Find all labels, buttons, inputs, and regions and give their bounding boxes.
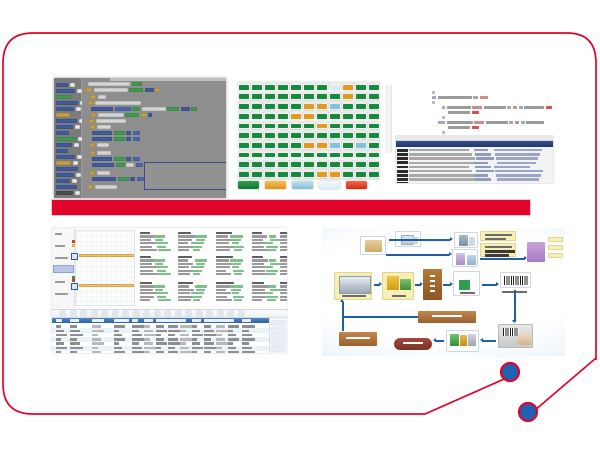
program-block[interactable] (97, 125, 111, 129)
palette-block[interactable] (56, 101, 78, 105)
palette-block-socket[interactable] (74, 143, 79, 147)
status-cell[interactable] (368, 179, 380, 180)
status-cell[interactable] (277, 111, 289, 119)
status-cell[interactable] (277, 121, 289, 129)
program-block[interactable] (90, 143, 95, 147)
status-cell[interactable] (316, 121, 328, 129)
status-cell[interactable] (329, 101, 341, 109)
status-cell[interactable] (251, 121, 263, 129)
status-cell[interactable] (355, 92, 367, 100)
grid-toolbar-button[interactable] (60, 311, 65, 316)
status-cell[interactable] (238, 160, 250, 168)
gantt-bar[interactable] (79, 254, 134, 257)
flow-node-report-a[interactable] (548, 237, 563, 242)
palette-block-socket[interactable] (73, 161, 78, 165)
grid-toolbar-button[interactable] (102, 311, 107, 316)
status-cell[interactable] (316, 130, 328, 138)
program-block[interactable] (114, 131, 125, 135)
status-cell[interactable] (290, 101, 302, 109)
program-block[interactable] (97, 171, 110, 175)
status-cell[interactable] (264, 111, 276, 119)
grid-column-header[interactable] (204, 319, 216, 321)
status-cell[interactable] (277, 160, 289, 168)
program-block[interactable] (132, 107, 140, 111)
status-cell[interactable] (238, 101, 250, 109)
program-block[interactable] (114, 157, 125, 161)
grid-column-header[interactable] (228, 319, 234, 321)
status-cell[interactable] (316, 101, 328, 109)
grid-column-header[interactable] (114, 319, 129, 321)
gantt-detail-label (178, 259, 188, 261)
program-block[interactable] (92, 137, 112, 141)
flow-node-wms-client[interactable] (452, 249, 478, 267)
grid-toolbar-button[interactable] (207, 311, 212, 316)
program-block[interactable] (92, 131, 112, 135)
palette-block[interactable] (56, 149, 68, 153)
status-cell[interactable] (368, 92, 380, 100)
program-block[interactable] (97, 151, 111, 155)
status-cell[interactable] (264, 121, 276, 129)
status-cell[interactable] (342, 130, 354, 138)
status-cell[interactable] (303, 150, 315, 158)
palette-block[interactable] (56, 89, 75, 93)
status-cell[interactable] (342, 140, 354, 148)
flow-node-inbound-plan[interactable] (480, 243, 516, 257)
status-cell[interactable] (342, 160, 354, 168)
status-cell[interactable] (342, 82, 354, 90)
status-cell[interactable] (355, 179, 367, 180)
grid-side-button[interactable] (272, 321, 285, 325)
gantt-detail-label (252, 296, 266, 298)
program-block[interactable] (133, 157, 140, 161)
grid-column-header[interactable] (70, 319, 79, 321)
status-cell[interactable] (368, 140, 380, 148)
status-cell[interactable] (264, 140, 276, 148)
grid-toolbar-button[interactable] (155, 311, 160, 316)
status-cell[interactable] (342, 111, 354, 119)
status-cell[interactable] (238, 92, 250, 100)
program-block[interactable] (133, 137, 140, 141)
status-cell[interactable] (277, 130, 289, 138)
program-block[interactable] (126, 163, 134, 167)
gantt-task-label[interactable] (55, 245, 65, 247)
grid-column-header[interactable] (192, 319, 201, 321)
status-cell[interactable] (342, 92, 354, 100)
status-cell[interactable] (251, 179, 263, 180)
flow-node-order-info[interactable] (480, 231, 516, 241)
grid-side-buttons[interactable] (269, 318, 287, 353)
status-cell[interactable] (368, 111, 380, 119)
palette-block[interactable] (56, 137, 76, 141)
flow-node-report-c[interactable] (548, 253, 563, 258)
status-cell[interactable] (290, 82, 302, 90)
status-cell[interactable] (251, 130, 263, 138)
gantt-detail-label (140, 256, 151, 258)
status-cell[interactable] (355, 101, 367, 109)
grid-column-header[interactable] (144, 319, 153, 321)
program-block[interactable] (91, 113, 96, 117)
status-cell[interactable] (355, 130, 367, 138)
data-grid[interactable] (52, 309, 287, 353)
panel-blocks-editor[interactable] (54, 78, 226, 198)
palette-block[interactable] (56, 125, 73, 129)
palette-block[interactable] (56, 179, 70, 183)
flow-node-report-b[interactable] (548, 245, 563, 250)
grid-column-header[interactable] (180, 319, 186, 321)
table-cell (180, 351, 192, 353)
grid-toolbar-button[interactable] (186, 311, 191, 316)
status-cell[interactable] (264, 130, 276, 138)
program-block[interactable] (88, 101, 93, 105)
status-cell[interactable] (303, 92, 315, 100)
program-block[interactable] (114, 137, 125, 141)
program-block[interactable] (96, 119, 126, 123)
status-cell[interactable] (277, 169, 289, 177)
flow-node-barcode-print[interactable] (500, 272, 531, 288)
program-block[interactable] (94, 88, 128, 92)
status-cell[interactable] (290, 111, 302, 119)
status-cell[interactable] (368, 82, 380, 90)
grid-toolbar-button[interactable] (144, 311, 149, 316)
status-cell[interactable] (264, 92, 276, 100)
palette-block[interactable] (56, 119, 77, 123)
status-cell[interactable] (251, 111, 263, 119)
program-block[interactable] (90, 171, 95, 175)
grid-side-button[interactable] (272, 328, 285, 332)
panel-schedule-sheet[interactable] (52, 228, 287, 353)
program-block[interactable] (88, 185, 93, 189)
table-cell (168, 351, 178, 353)
gantt-detail-label (280, 249, 287, 251)
status-cell[interactable] (368, 101, 380, 109)
grid-toolbar-button[interactable] (113, 311, 118, 316)
status-cell[interactable] (290, 140, 302, 148)
grid-toolbar-button[interactable] (123, 311, 128, 316)
status-cell[interactable] (251, 169, 263, 177)
program-block[interactable] (129, 88, 143, 92)
gantt-detail-value (266, 246, 278, 248)
gantt-node[interactable] (71, 283, 78, 290)
status-cell[interactable] (264, 82, 276, 90)
status-cell[interactable] (303, 179, 315, 180)
palette-block-socket[interactable] (76, 107, 81, 111)
status-cell[interactable] (316, 179, 328, 180)
status-cell[interactable] (342, 150, 354, 158)
grid-column-header[interactable] (242, 319, 251, 321)
gantt-detail-label (216, 299, 232, 301)
status-cell[interactable] (355, 111, 367, 119)
status-cell[interactable] (342, 179, 354, 180)
flow-node-nonconforming-store[interactable] (339, 332, 377, 346)
status-grid[interactable] (238, 82, 380, 180)
palette-block[interactable] (56, 167, 78, 171)
status-cell[interactable] (264, 160, 276, 168)
panel-logistics-flowchart[interactable] (322, 228, 565, 356)
program-block[interactable] (89, 119, 94, 123)
grid-side-button[interactable] (272, 347, 285, 351)
status-cell[interactable] (238, 130, 250, 138)
grid-toolbar-button[interactable] (165, 311, 170, 316)
status-cell[interactable] (290, 150, 302, 158)
status-cell[interactable] (329, 140, 341, 148)
flow-node-inbound-complete[interactable] (394, 338, 432, 350)
program-block[interactable] (92, 157, 112, 161)
status-cell[interactable] (238, 111, 250, 119)
status-cell[interactable] (316, 92, 328, 100)
program-block[interactable] (115, 107, 131, 111)
program-block[interactable] (90, 151, 95, 155)
palette-block[interactable] (56, 113, 70, 117)
blocks-palette[interactable] (54, 78, 82, 198)
flow-node-receiving-doc[interactable] (423, 269, 442, 300)
status-cell[interactable] (277, 92, 289, 100)
status-cell[interactable] (264, 101, 276, 109)
program-block[interactable] (95, 101, 141, 105)
status-cell[interactable] (277, 150, 289, 158)
grid-toolbar-button[interactable] (218, 311, 223, 316)
gantt-task-label[interactable] (55, 293, 68, 295)
grid-column-header[interactable] (132, 319, 138, 321)
status-cell[interactable] (368, 121, 380, 129)
status-cell[interactable] (368, 169, 380, 177)
grid-toolbar-button[interactable] (228, 311, 233, 316)
status-cell[interactable] (264, 169, 276, 177)
grid-toolbar-button[interactable] (197, 311, 202, 316)
status-cell[interactable] (355, 121, 367, 129)
program-block[interactable] (92, 177, 116, 181)
program-block[interactable] (141, 113, 147, 117)
gantt-selected-task[interactable] (53, 265, 74, 273)
palette-block[interactable] (56, 173, 74, 177)
status-cell[interactable] (355, 150, 367, 158)
program-block[interactable] (167, 107, 179, 111)
status-cell[interactable] (277, 179, 289, 180)
program-block[interactable] (98, 113, 124, 117)
palette-block[interactable] (56, 131, 69, 135)
status-cell[interactable] (277, 82, 289, 90)
status-cell[interactable] (368, 150, 380, 158)
status-cell[interactable] (238, 179, 250, 180)
program-block[interactable] (91, 107, 113, 111)
program-block[interactable] (137, 177, 144, 181)
status-cell[interactable] (303, 121, 315, 129)
status-cell[interactable] (251, 140, 263, 148)
panel-status-grid[interactable] (236, 80, 382, 180)
program-block[interactable] (92, 163, 114, 167)
code-token (509, 121, 513, 124)
grid-toolbar-button[interactable] (92, 311, 97, 316)
status-cell[interactable] (316, 82, 328, 90)
status-cell[interactable] (316, 111, 328, 119)
gantt-chart[interactable] (52, 228, 287, 308)
gantt-detail-label (252, 256, 263, 258)
status-cell[interactable] (368, 160, 380, 168)
status-cell[interactable] (329, 92, 341, 100)
flow-node-unload[interactable] (382, 272, 414, 300)
status-cell[interactable] (316, 160, 328, 168)
status-cell[interactable] (303, 169, 315, 177)
status-cell[interactable] (251, 160, 263, 168)
program-block[interactable] (86, 88, 92, 92)
status-cell[interactable] (277, 101, 289, 109)
program-block[interactable] (90, 125, 95, 129)
status-cell[interactable] (290, 160, 302, 168)
status-cell[interactable] (290, 179, 302, 180)
status-cell[interactable] (329, 111, 341, 119)
grid-toolbar-button[interactable] (81, 311, 86, 316)
palette-block[interactable] (56, 107, 74, 111)
status-cell[interactable] (251, 150, 263, 158)
program-block[interactable] (98, 95, 106, 99)
flow-arrow-head (340, 299, 344, 302)
program-block[interactable] (155, 88, 160, 92)
gantt-bar[interactable] (79, 284, 134, 287)
flow-node-quantity-inspect[interactable] (453, 271, 480, 296)
program-block[interactable] (145, 88, 154, 92)
status-cell[interactable] (290, 92, 302, 100)
status-cell[interactable] (238, 121, 250, 129)
program-block[interactable] (191, 107, 197, 111)
status-cell[interactable] (329, 130, 341, 138)
status-cell[interactable] (238, 140, 250, 148)
status-cell[interactable] (251, 92, 263, 100)
palette-block-socket[interactable] (72, 179, 77, 183)
blocks-canvas[interactable] (82, 78, 226, 198)
program-block[interactable] (132, 82, 142, 86)
gantt-detail-label (252, 235, 267, 237)
program-block[interactable] (126, 157, 131, 161)
status-cell[interactable] (316, 150, 328, 158)
status-cell[interactable] (290, 169, 302, 177)
program-block[interactable] (130, 177, 135, 181)
status-cell[interactable] (303, 111, 315, 119)
program-block[interactable] (116, 163, 125, 167)
grid-toolbar-button[interactable] (176, 311, 181, 316)
status-cell[interactable] (329, 121, 341, 129)
gantt-node[interactable] (71, 253, 78, 260)
status-cell[interactable] (329, 82, 341, 90)
flow-node-nonconforming-area[interactable] (418, 311, 476, 323)
program-block[interactable] (90, 95, 96, 99)
grid-toolbar[interactable] (52, 310, 287, 318)
gantt-flag (72, 240, 75, 243)
status-cell[interactable] (316, 140, 328, 148)
flow-node-supplier-delivery[interactable] (334, 272, 372, 300)
status-cell[interactable] (290, 130, 302, 138)
status-cell[interactable] (329, 160, 341, 168)
palette-block-socket[interactable] (75, 125, 80, 129)
status-cell[interactable] (342, 169, 354, 177)
status-cell[interactable] (329, 179, 341, 180)
program-block[interactable] (181, 107, 190, 111)
program-block[interactable] (125, 113, 139, 117)
program-block[interactable] (88, 82, 130, 86)
program-block[interactable] (118, 177, 129, 181)
status-cell[interactable] (355, 82, 367, 90)
status-cell[interactable] (303, 140, 315, 148)
palette-block-socket[interactable] (70, 83, 75, 87)
program-block[interactable] (148, 113, 152, 117)
status-cell[interactable] (290, 121, 302, 129)
palette-block[interactable] (56, 161, 71, 165)
status-cell[interactable] (277, 140, 289, 148)
palette-block-socket[interactable] (76, 173, 81, 177)
status-cell[interactable] (303, 130, 315, 138)
flow-node-reports-binder[interactable] (527, 242, 545, 262)
status-cell[interactable] (368, 130, 380, 138)
status-cell[interactable] (251, 82, 263, 90)
palette-block[interactable] (56, 143, 72, 147)
grid-toolbar-button[interactable] (134, 311, 139, 316)
palette-block-socket[interactable] (75, 191, 80, 195)
palette-block[interactable] (56, 191, 73, 195)
flow-node-barcode-scan[interactable] (498, 324, 533, 348)
palette-block[interactable] (56, 185, 77, 189)
flow-node-putaway[interactable] (446, 330, 479, 352)
status-cell[interactable] (264, 150, 276, 158)
flow-node-erp-server[interactable] (454, 232, 478, 248)
status-cell[interactable] (342, 101, 354, 109)
status-cell[interactable] (355, 169, 367, 177)
gantt-timeline-grid[interactable] (75, 230, 135, 306)
status-cell[interactable] (303, 160, 315, 168)
status-cell[interactable] (303, 82, 315, 90)
gantt-detail-label (178, 263, 193, 265)
status-cell[interactable] (329, 169, 341, 177)
grid-header-row[interactable] (52, 318, 287, 323)
program-block[interactable] (126, 131, 131, 135)
grid-column-header[interactable] (56, 319, 62, 321)
gantt-task-label[interactable] (55, 257, 68, 259)
grid-column-header[interactable] (92, 319, 104, 321)
status-cell[interactable] (355, 160, 367, 168)
status-cell[interactable] (329, 150, 341, 158)
grid-column-header[interactable] (156, 319, 168, 321)
palette-block[interactable] (56, 95, 71, 99)
status-cell[interactable] (303, 101, 315, 109)
grid-toolbar-button[interactable] (239, 311, 244, 316)
status-cell[interactable] (355, 140, 367, 148)
panel-output-log[interactable] (396, 136, 553, 183)
program-block[interactable] (136, 163, 143, 167)
program-block[interactable] (97, 143, 109, 147)
gantt-task-label[interactable] (55, 281, 65, 283)
flow-node-office-staff[interactable] (360, 236, 386, 255)
grid-side-button[interactable] (272, 334, 285, 338)
status-cell[interactable] (316, 169, 328, 177)
status-cell[interactable] (251, 101, 263, 109)
gantt-detail-label (252, 289, 265, 291)
status-cell[interactable] (238, 169, 250, 177)
palette-block[interactable] (56, 155, 75, 159)
program-block[interactable] (133, 131, 140, 135)
gantt-detail-label (280, 299, 287, 301)
status-cell[interactable] (238, 150, 250, 158)
palette-block[interactable] (56, 83, 68, 87)
program-block[interactable] (126, 137, 131, 141)
gantt-task-label[interactable] (55, 233, 62, 235)
grid-side-button[interactable] (272, 341, 285, 345)
gantt-detail-label (216, 282, 234, 284)
status-cell[interactable] (238, 82, 250, 90)
table-row[interactable] (52, 350, 287, 353)
program-block[interactable] (95, 185, 117, 189)
status-cell[interactable] (264, 179, 276, 180)
status-cell[interactable] (342, 121, 354, 129)
program-block[interactable] (142, 107, 166, 111)
log-row[interactable] (396, 182, 553, 183)
grid-toolbar-button[interactable] (71, 311, 76, 316)
